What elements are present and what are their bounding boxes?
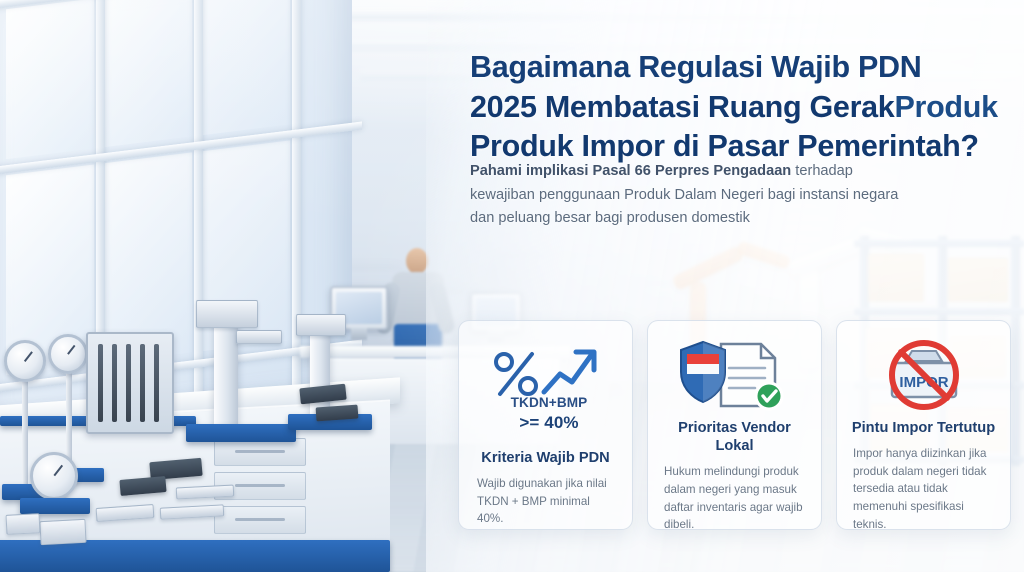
- feature-cards: TKDN+BMP >= 40% Kriteria Wajib PDN Wajib…: [458, 320, 1011, 530]
- subtitle-lead-rest: terhadap: [791, 163, 853, 179]
- card-title: Kriteria Wajib PDN: [473, 449, 618, 467]
- subtitle-line-3: dan peluang besar bagi produsen domestik: [470, 207, 968, 231]
- subtitle: Pahami implikasi Pasal 66 Perpres Pengad…: [470, 160, 968, 231]
- card-title: Pintu Impor Tertutup: [851, 419, 996, 437]
- shield-document-check-icon: [662, 337, 807, 413]
- import-prohibited-icon: IMPOR: [851, 337, 996, 413]
- card-kriteria-wajib-pdn[interactable]: TKDN+BMP >= 40% Kriteria Wajib PDN Wajib…: [458, 320, 633, 530]
- card-body: Impor hanya diizinkan jika produk dalam …: [851, 445, 996, 530]
- card-kpi-line-2: >= 40%: [469, 412, 629, 433]
- bench-blue-frame: [0, 540, 390, 572]
- case-tool-slot: [126, 344, 131, 422]
- subtitle-lead: Pahami implikasi Pasal 66 Perpres Pengad…: [470, 163, 791, 179]
- card-body: Wajib digunakan jika nilai TKDN + BMP mi…: [473, 475, 618, 528]
- card-body: Hukum melindungi produk dalam negeri yan…: [662, 463, 807, 530]
- measuring-column: [214, 310, 238, 430]
- case-tool-slot: [112, 344, 117, 422]
- window-mullion: [194, 0, 203, 446]
- window-glass: [104, 0, 192, 147]
- page-title: Bagaimana Regulasi Wajib PDN 2025 Membat…: [470, 48, 1000, 167]
- bench-drawer: [214, 438, 306, 466]
- card-kpi-line-1: TKDN+BMP: [469, 395, 629, 412]
- window-mullion: [292, 0, 301, 434]
- window-glass: [202, 0, 290, 135]
- case-tool-slot: [140, 344, 145, 422]
- machined-part: [316, 405, 359, 422]
- instrument-case: [86, 332, 174, 434]
- gauge-base: [20, 498, 90, 514]
- hero-banner: Bagaimana Regulasi Wajib PDN 2025 Membat…: [0, 0, 1024, 572]
- bench-drawer: [214, 506, 306, 534]
- headline-line-2: 2025 Membatasi Ruang Gerak: [470, 90, 894, 124]
- subtitle-line-2: kewajiban penggunaan Produk Dalam Negeri…: [470, 184, 968, 208]
- dial-gauge: [30, 452, 78, 500]
- window-glass: [6, 0, 94, 159]
- case-tool-slot: [154, 344, 159, 422]
- case-tool-slot: [98, 344, 103, 422]
- card-kpi: TKDN+BMP >= 40%: [469, 395, 629, 433]
- card-title: Prioritas Vendor Lokal: [662, 419, 807, 455]
- card-pintu-impor-tertutup[interactable]: IMPOR Pintu Impor Tertutup Impor hanya d…: [836, 320, 1011, 530]
- column-head: [296, 314, 346, 336]
- column-head: [196, 300, 258, 328]
- column-arm: [236, 330, 282, 344]
- headline-line-2-tail: Produk: [894, 90, 997, 124]
- dial-gauge: [48, 334, 88, 374]
- monitor-stand: [351, 328, 367, 340]
- machined-part: [39, 519, 86, 545]
- machined-part: [5, 513, 40, 535]
- measuring-column: [310, 324, 330, 420]
- worker-head: [406, 248, 428, 274]
- card-prioritas-vendor-lokal[interactable]: Prioritas Vendor Lokal Hukum melindungi …: [647, 320, 822, 530]
- headline-line-1: Bagaimana Regulasi Wajib PDN: [470, 48, 1000, 88]
- dial-gauge: [4, 340, 46, 382]
- measuring-column-base: [186, 424, 296, 442]
- headline-line-2-wrap: 2025 Membatasi Ruang GerakProduk: [470, 88, 1000, 128]
